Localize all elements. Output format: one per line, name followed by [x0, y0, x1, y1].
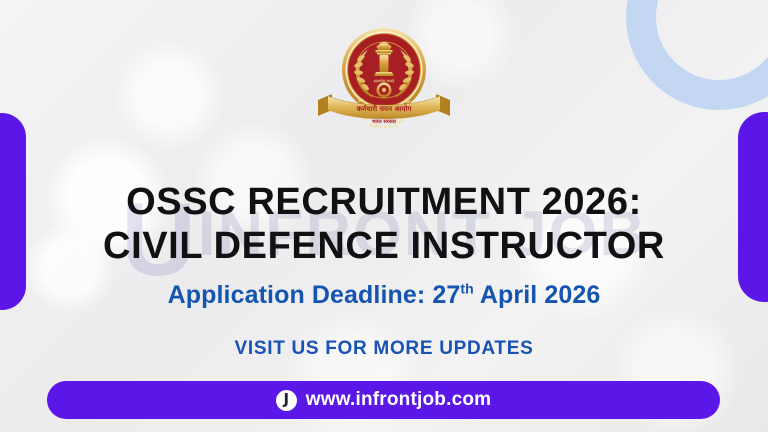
deadline-label: Application Deadline: 27	[168, 281, 461, 309]
svg-text:भारत सरकार: भारत सरकार	[372, 119, 397, 125]
website-url-text: www.infrontjob.com	[306, 389, 492, 411]
logo-container: STAFF SELECTION COMMISSION	[0, 24, 768, 128]
recruitment-poster: UINFRONT JOB	[0, 0, 768, 432]
website-url-bar[interactable]: J www.infrontjob.com	[47, 381, 720, 419]
deadline-ordinal: th	[460, 281, 473, 297]
page-title: OSSC RECRUITMENT 2026: CIVIL DEFENCE INS…	[0, 181, 768, 268]
page-title-line-1: OSSC RECRUITMENT 2026:	[0, 181, 768, 224]
page-title-line-2: CIVIL DEFENCE INSTRUCTOR	[0, 225, 768, 268]
application-deadline: Application Deadline: 27th April 2026	[0, 281, 768, 310]
infrontjob-logo-icon: J	[276, 390, 297, 411]
visit-us-text: VISIT US FOR MORE UPDATES	[0, 338, 768, 360]
deadline-date-rest: April 2026	[474, 281, 601, 309]
ssc-emblem-icon: STAFF SELECTION COMMISSION	[308, 24, 460, 128]
infrontjob-logo-glyph: J	[283, 392, 289, 407]
svg-text:कर्मचारी चयन आयोग: कर्मचारी चयन आयोग	[356, 104, 413, 113]
